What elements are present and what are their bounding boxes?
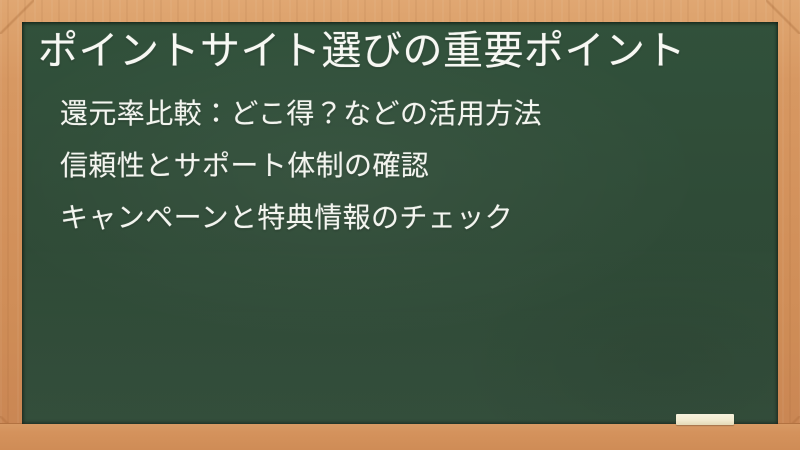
board-point-list: 還元率比較：どこ得？などの活用方法 信頼性とサポート体制の確認 キャンペーンと特… [60, 100, 764, 232]
chalk-stick [676, 414, 734, 425]
board-title: ポイントサイト選びの重要ポイント [38, 28, 686, 75]
blackboard-slide: ポイントサイト選びの重要ポイント 還元率比較：どこ得？などの活用方法 信頼性とサ… [0, 0, 800, 450]
list-item: キャンペーンと特典情報のチェック [60, 204, 764, 232]
blackboard-surface: ポイントサイト選びの重要ポイント 還元率比較：どこ得？などの活用方法 信頼性とサ… [22, 22, 778, 424]
list-item: 信頼性とサポート体制の確認 [60, 152, 764, 180]
chalk-ledge [0, 423, 800, 450]
list-item: 還元率比較：どこ得？などの活用方法 [60, 100, 764, 128]
